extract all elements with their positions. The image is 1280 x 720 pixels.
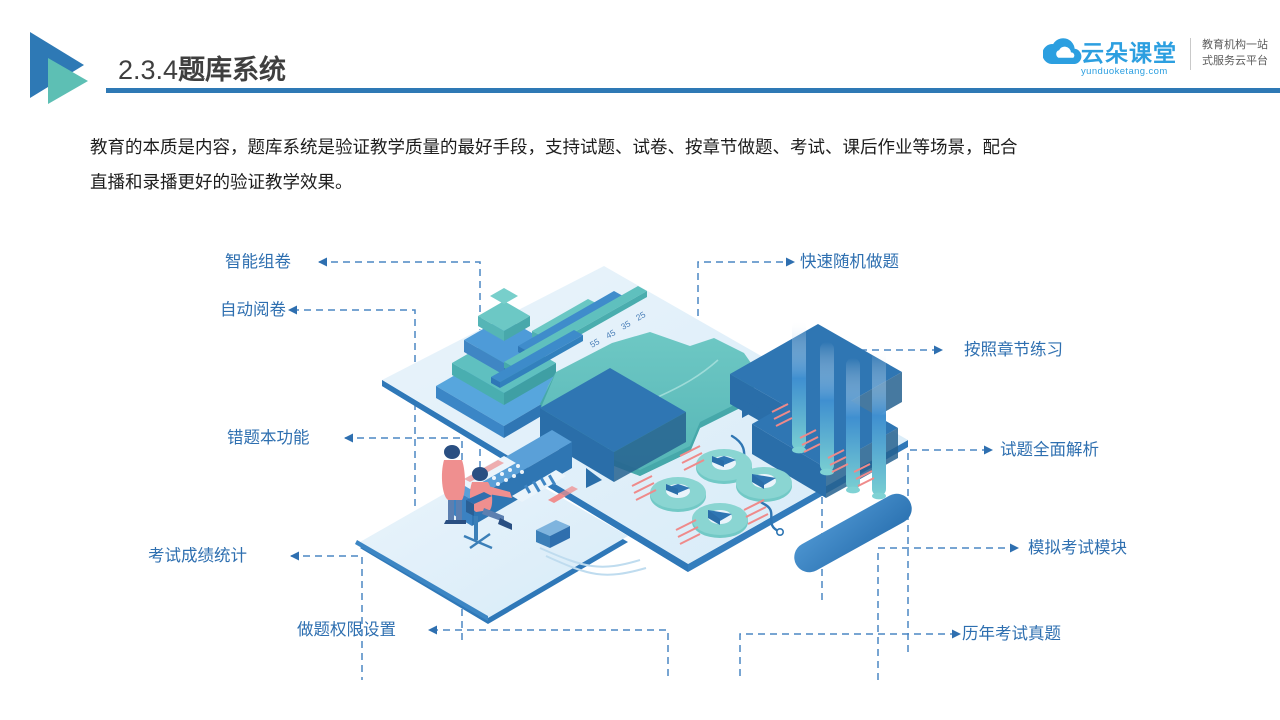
brand-url: yunduoketang.com	[1081, 67, 1177, 77]
brand-lockup: 云朵课堂 yunduoketang.com 教育机构一站 式服务云平台	[1043, 28, 1268, 80]
label-auto-grading[interactable]: 自动阅卷	[220, 302, 286, 319]
brand-name: 云朵课堂	[1081, 42, 1177, 65]
double-triangle-play-logo	[22, 28, 98, 106]
label-practice-by-chapter[interactable]: 按照章节练习	[964, 342, 1063, 359]
page-title: 2.3.4题库系统	[118, 48, 286, 87]
body-paragraph: 教育的本质是内容，题库系统是验证教学质量的最好手段，支持试题、试卷、按章节做题、…	[90, 130, 1250, 200]
label-fast-random-questions[interactable]: 快速随机做题	[800, 254, 899, 271]
donut-chart	[736, 467, 792, 502]
brand-logo: 云朵课堂 yunduoketang.com	[1043, 32, 1177, 77]
label-exam-score-stats[interactable]: 考试成绩统计	[148, 548, 247, 565]
body-line-2: 直播和录播更好的验证教学效果。	[90, 165, 1250, 200]
title-underline-rule	[106, 88, 1280, 93]
page-title-number: 2.3.4	[118, 55, 178, 85]
body-line-1: 教育的本质是内容，题库系统是验证教学质量的最好手段，支持试题、试卷、按章节做题、…	[90, 130, 1250, 165]
label-smart-paper-assembly[interactable]: 智能组卷	[225, 254, 291, 271]
brand-tagline-line-2: 式服务云平台	[1202, 54, 1268, 70]
donut-chart	[692, 503, 748, 538]
label-question-permission-settings[interactable]: 做题权限设置	[297, 622, 396, 639]
label-mistake-notebook[interactable]: 错题本功能	[227, 430, 310, 447]
label-mock-exam-module[interactable]: 模拟考试模块	[1028, 540, 1127, 557]
isometric-data-platform-illustration: 55 45 35 25	[0, 200, 1280, 680]
slide-canvas: 2.3.4题库系统 云朵课堂 yunduoketang.com 教育机构一站 式…	[0, 0, 1280, 720]
label-full-question-analysis[interactable]: 试题全面解析	[1000, 442, 1099, 459]
brand-wordmark: 云朵课堂 yunduoketang.com	[1081, 42, 1177, 77]
page-title-text: 题库系统	[178, 55, 286, 85]
brand-tagline-line-1: 教育机构一站	[1202, 38, 1268, 54]
brand-tagline: 教育机构一站 式服务云平台	[1202, 38, 1268, 70]
brand-divider	[1190, 38, 1191, 70]
feature-diagram: 55 45 35 25	[0, 200, 1280, 680]
label-past-year-real-exams[interactable]: 历年考试真题	[962, 626, 1061, 643]
donut-chart	[650, 477, 706, 512]
